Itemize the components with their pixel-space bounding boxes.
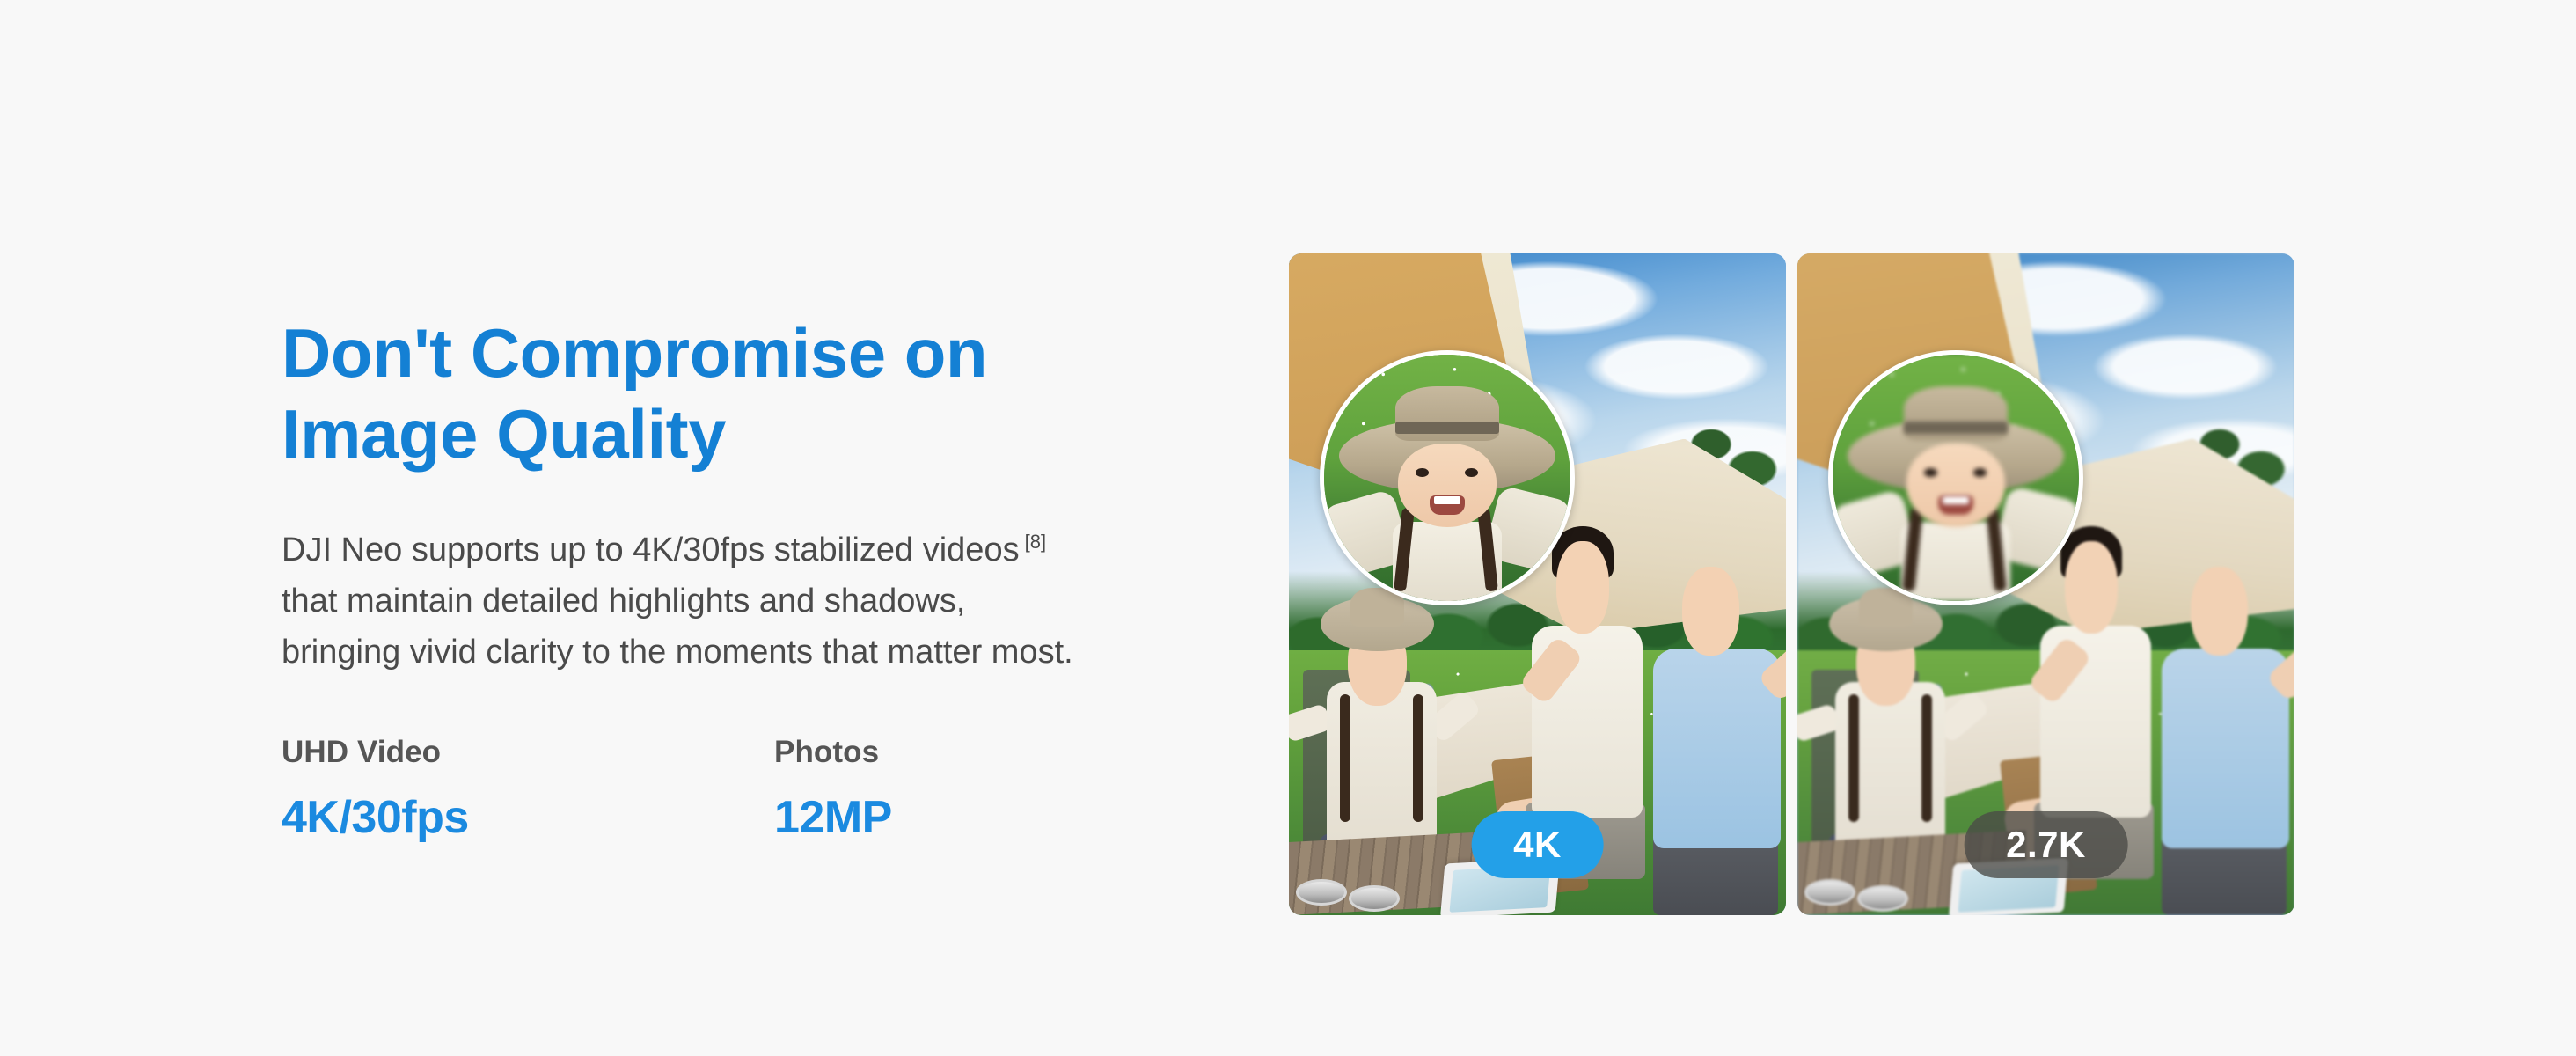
stat-photos: Photos 12MP — [774, 735, 1267, 844]
camp-pan-2 — [1857, 885, 1908, 912]
comparison-panel-27k[interactable]: 2.7K — [1797, 253, 2294, 915]
stat-uhd-video: UHD Video 4K/30fps — [282, 735, 774, 844]
description-line-1: DJI Neo supports up to 4K/30fps stabiliz… — [282, 525, 1232, 576]
inset-eye-right — [1973, 468, 1987, 477]
spec-stats-row: UHD Video 4K/30fps Photos 12MP — [282, 735, 1267, 844]
inset-hat-band — [1904, 422, 2008, 434]
child-braid-left — [1848, 694, 1859, 822]
description-paragraph: DJI Neo supports up to 4K/30fps stabiliz… — [282, 525, 1232, 678]
inset-eye-left — [1924, 468, 1937, 477]
child-braid-right — [1413, 694, 1423, 822]
resolution-badge-27k: 2.7K — [1964, 811, 2128, 878]
stat-label-uhd-video: UHD Video — [282, 735, 774, 770]
stat-label-photos: Photos — [774, 735, 1267, 770]
text-column: Don't Compromise on Image Quality DJI Ne… — [282, 312, 1232, 678]
inset-hat-band — [1395, 422, 1499, 434]
person-woman — [2155, 545, 2294, 915]
description-line-2: that maintain detailed highlights and sh… — [282, 576, 1232, 627]
comparison-panel-4k[interactable]: 4K — [1289, 253, 1786, 915]
page-title: Don't Compromise on Image Quality — [282, 312, 1232, 474]
description-text-1: DJI Neo supports up to 4K/30fps stabiliz… — [282, 532, 1020, 568]
camp-pan-2 — [1349, 885, 1400, 912]
woman-face — [2191, 567, 2247, 656]
inset-teeth — [1943, 496, 1970, 504]
magnifier-inset-4k — [1320, 350, 1575, 605]
woman-face — [1682, 567, 1738, 656]
child-braid-left — [1340, 694, 1350, 822]
stat-value-photos: 12MP — [774, 791, 1267, 844]
magnifier-inset-27k — [1828, 350, 2083, 605]
stat-value-uhd-video: 4K/30fps — [282, 791, 774, 844]
inset-teeth — [1434, 496, 1461, 504]
inset-eye-right — [1465, 468, 1478, 477]
resolution-comparison: 4K — [1289, 253, 2294, 915]
image-quality-section: Don't Compromise on Image Quality DJI Ne… — [0, 0, 2576, 1056]
description-line-3: bringing vivid clarity to the moments th… — [282, 627, 1232, 678]
footnote-marker: [8] — [1025, 531, 1046, 553]
inset-eye-left — [1416, 468, 1429, 477]
resolution-badge-4k: 4K — [1471, 811, 1604, 878]
person-woman — [1647, 545, 1786, 915]
child-braid-right — [1921, 694, 1932, 822]
